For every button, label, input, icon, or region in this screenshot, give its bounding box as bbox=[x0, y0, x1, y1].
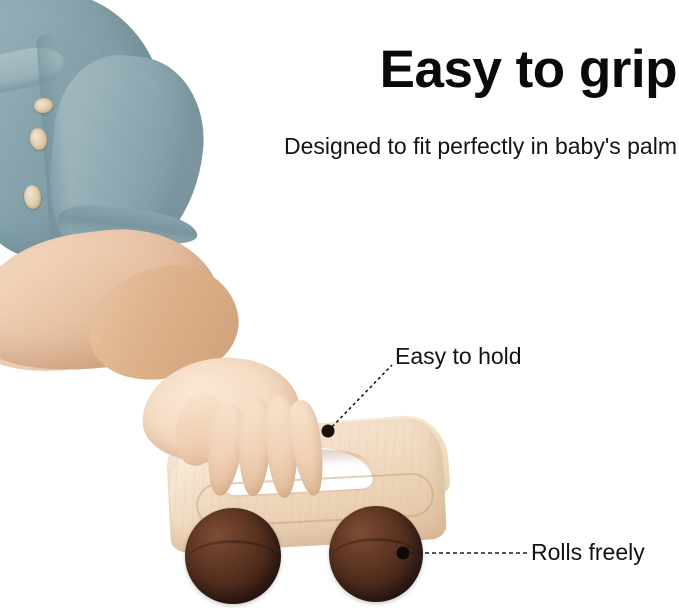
callout-label-rolls-freely: Rolls freely bbox=[531, 541, 645, 564]
callout-label-easy-to-hold: Easy to hold bbox=[395, 345, 522, 368]
product-feature-image: Easy to grip Designed to fit perfectly i… bbox=[0, 0, 679, 608]
page-title: Easy to grip bbox=[0, 42, 679, 98]
page-subtitle: Designed to fit perfectly in baby's palm bbox=[0, 133, 679, 161]
